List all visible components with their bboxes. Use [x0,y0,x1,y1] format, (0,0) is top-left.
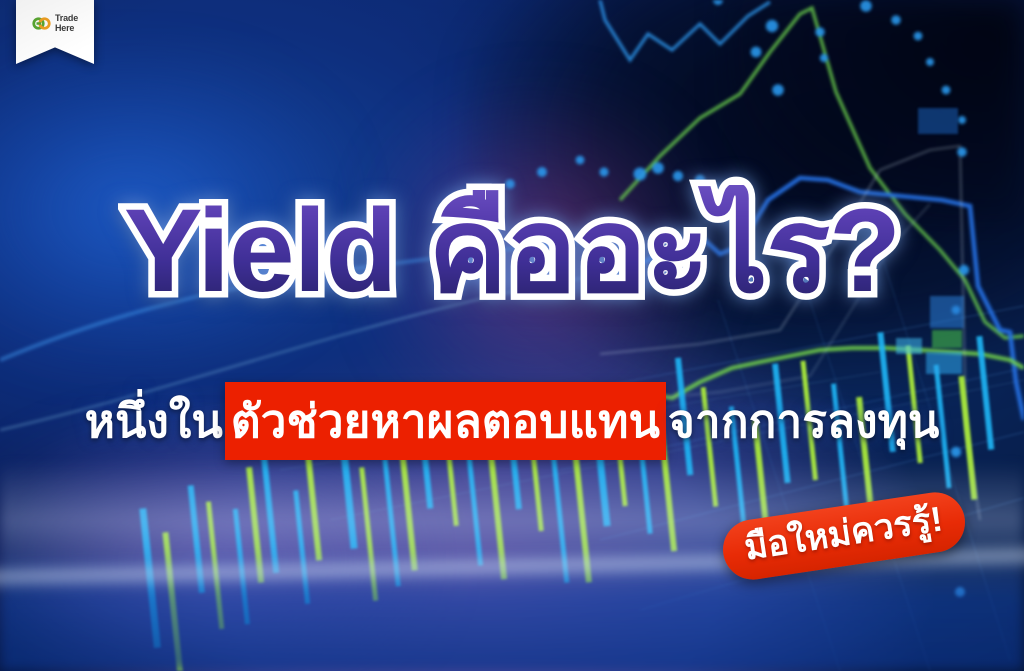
subtitle: หนึ่งในตัวช่วยหาผลตอบแทนจากการลงทุน [0,382,1024,460]
trade-here-logo[interactable]: Trade Here [16,0,94,64]
subtitle-highlight: ตัวช่วยหาผลตอบแทน [225,382,666,460]
logo-word-here: Here [55,24,78,34]
subtitle-suffix: จากการลงทุน [666,382,941,460]
headline-text: Yield คืออะไร? [124,185,900,317]
logo-wordmark: Trade Here [55,14,78,33]
logo-contents: Trade Here [16,14,94,33]
page-title: Yield คืออะไร? Yield คืออะไร? [0,186,1024,316]
yield-promo-banner: Trade Here Yield คืออะไร? Yield คืออะไร?… [0,0,1024,671]
subtitle-prefix: หนึ่งใน [83,382,225,460]
trade-here-mark-icon [32,16,52,31]
headline-wrap: Yield คืออะไร? Yield คืออะไร? [124,186,900,316]
